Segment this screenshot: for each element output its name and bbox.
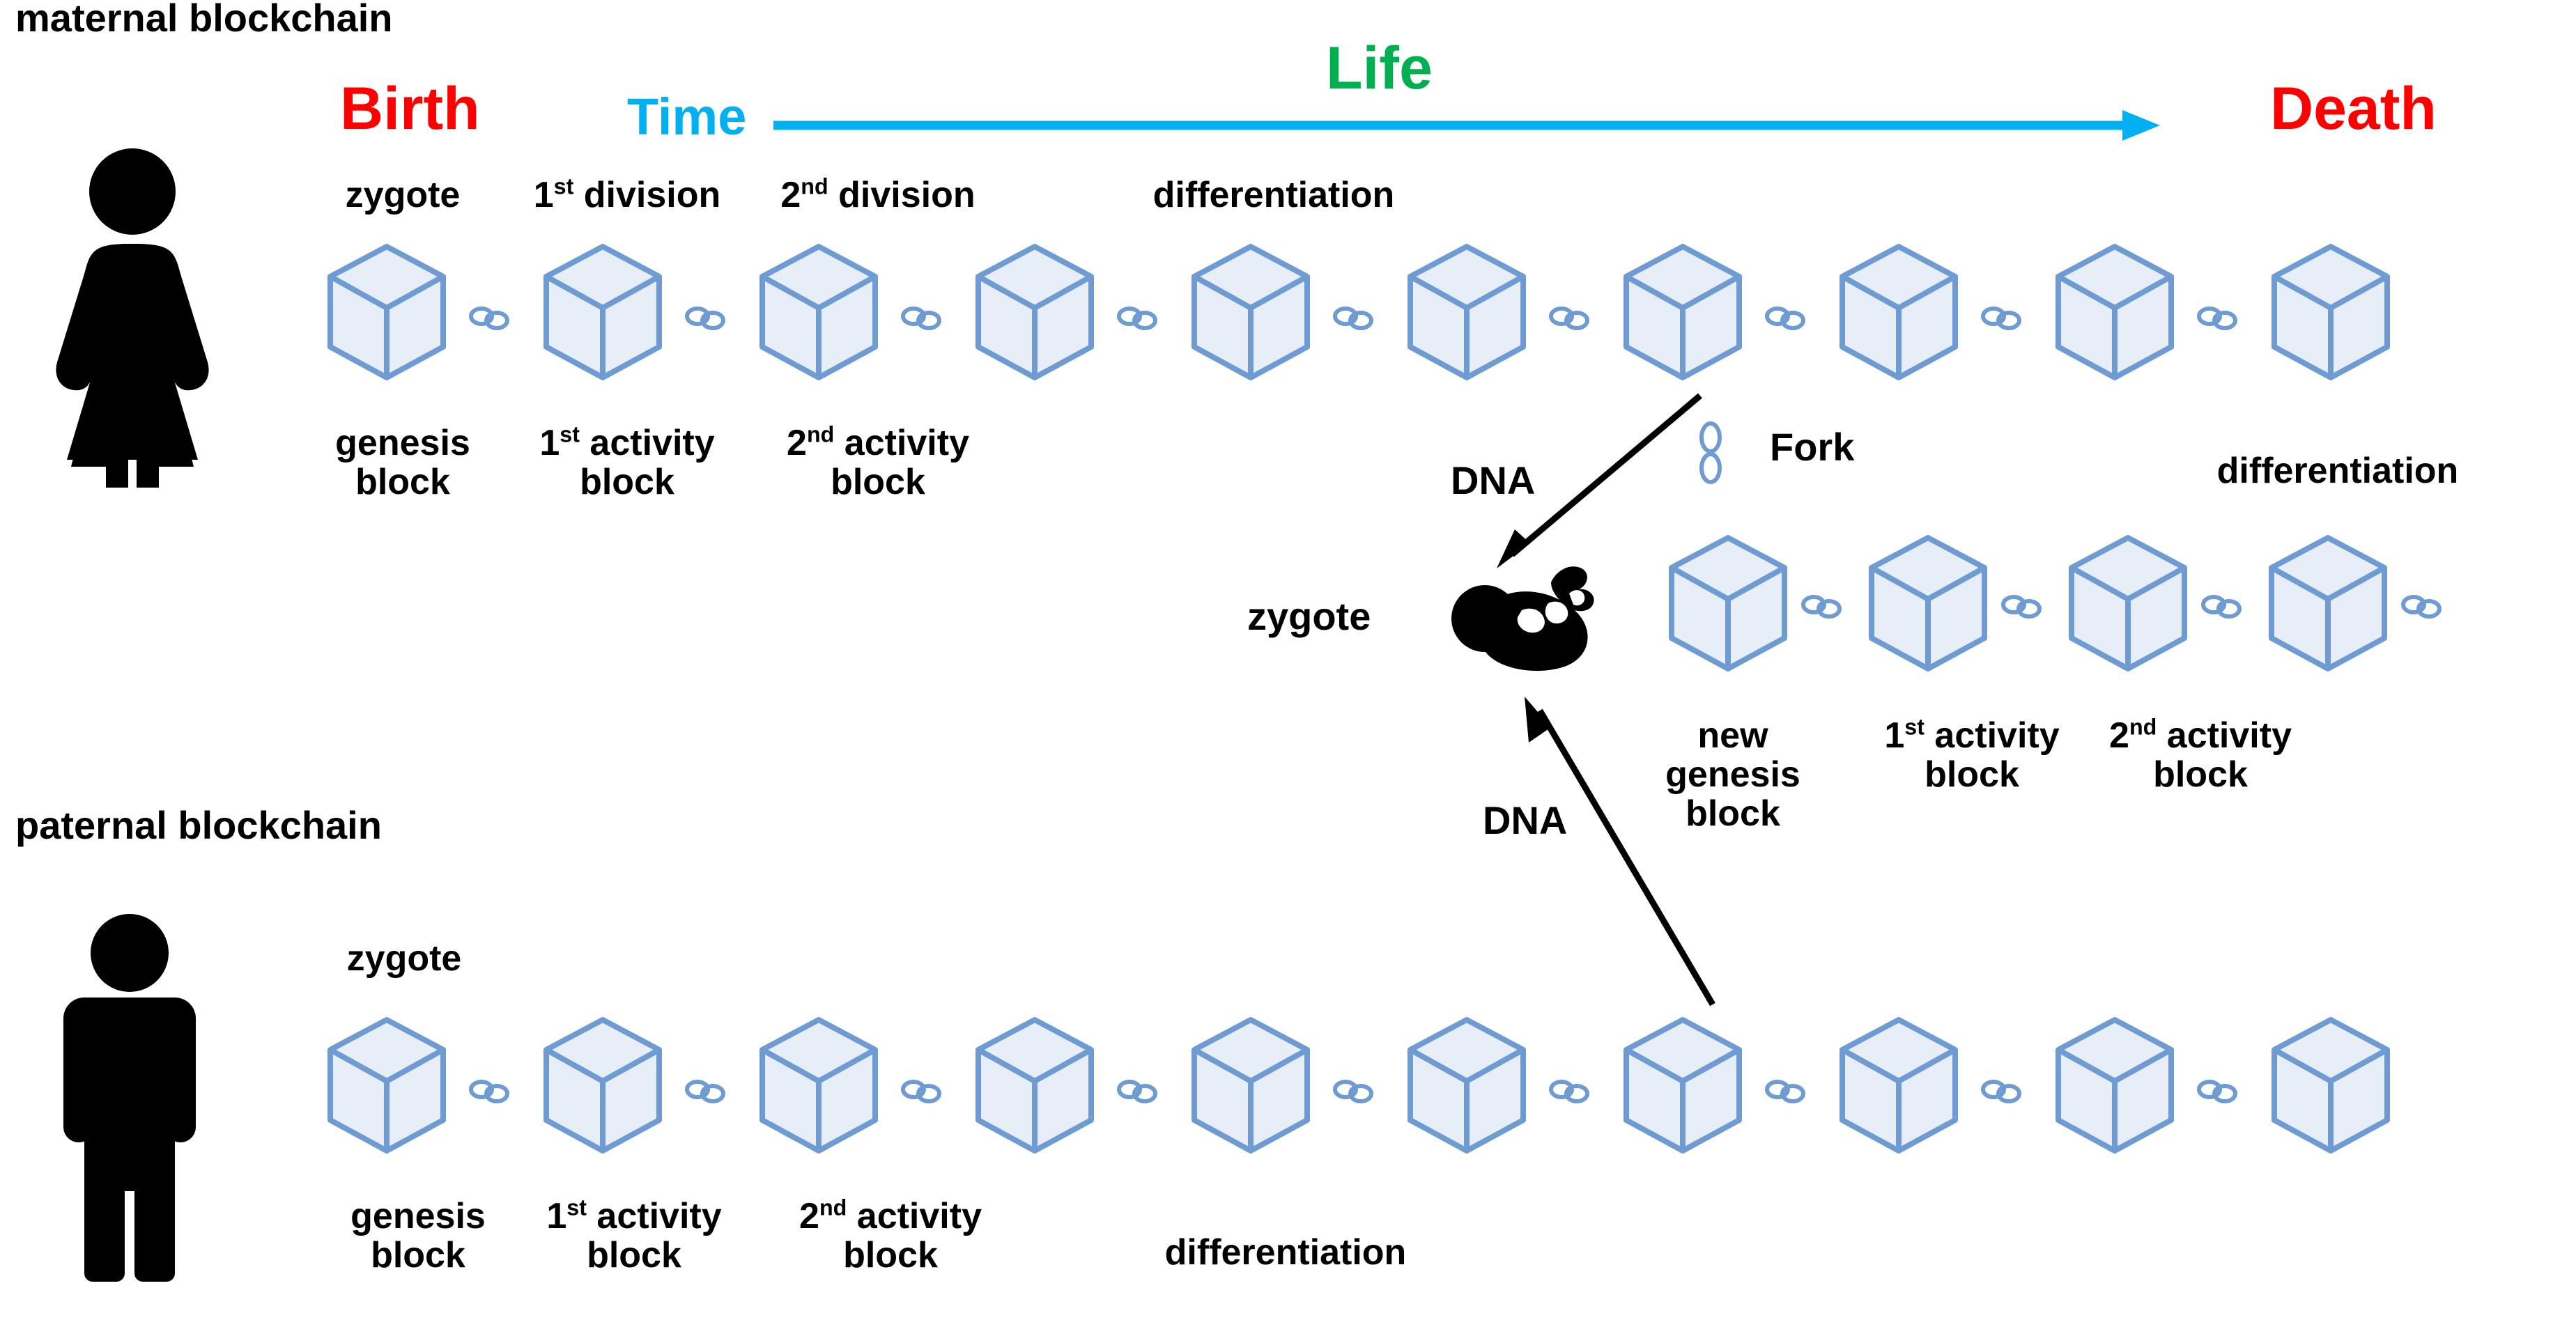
birth-label: Birth	[340, 77, 480, 141]
label-line: 2nd activity	[2109, 716, 2292, 755]
label-text: zygote	[346, 175, 461, 215]
maternal-blockchain-row	[327, 230, 2460, 411]
label-line: block	[1884, 755, 2059, 794]
label-line: 1st activity	[546, 1197, 721, 1236]
label-line: block	[799, 1236, 982, 1275]
death-label: Death	[2270, 77, 2437, 141]
label-line: block	[539, 463, 714, 502]
label-line: block	[350, 1236, 486, 1275]
life-label: Life	[1326, 36, 1433, 101]
time-arrow-icon	[773, 104, 2160, 146]
fetus-silhouette-icon	[1447, 557, 1614, 683]
label-line: 2nd activity	[799, 1197, 982, 1236]
maternal-top-label-1st-division: 1st division	[534, 176, 721, 215]
paternal-bottom-label-differentiation: differentiation	[1165, 1233, 1407, 1272]
fork-bottom-label-1st-activity-block: 1st activity block	[1884, 716, 2059, 794]
label-line: block	[335, 463, 470, 502]
paternal-bottom-label-2nd-activity-block: 2nd activity block	[799, 1197, 982, 1275]
fork-top-label-differentiation: differentiation	[2217, 451, 2459, 490]
label-line: 2nd activity	[787, 424, 969, 463]
label-line: block	[787, 463, 969, 502]
time-label: Time	[627, 89, 746, 145]
dna-arrow-paternal-to-zygote	[1512, 697, 1791, 1017]
fork-bottom-label-2nd-activity-block: 2nd activity block	[2109, 716, 2292, 794]
paternal-bottom-label-genesis-block: genesis block	[350, 1197, 486, 1275]
label-text: zygote	[347, 938, 462, 979]
paternal-blockchain-row	[327, 1003, 2460, 1184]
label-line: genesis	[350, 1197, 486, 1236]
offspring-zygote-label: zygote	[1247, 596, 1371, 637]
fork-label: Fork	[1770, 426, 1854, 468]
label-text: differentiation	[2217, 451, 2459, 491]
maternal-bottom-label-genesis-block: genesis block	[335, 424, 470, 502]
maternal-top-label-differentiation: differentiation	[1153, 176, 1395, 215]
label-line: 1st activity	[1884, 716, 2059, 755]
maternal-blockchain-title: maternal blockchain	[15, 0, 393, 39]
diagram-canvas: maternal blockchain paternal blockchain …	[0, 0, 2576, 1343]
paternal-top-label-zygote: zygote	[347, 939, 462, 978]
dna-label-paternal: DNA	[1483, 800, 1567, 841]
fork-blockchain-row	[1669, 529, 2575, 711]
label-text: differentiation	[1153, 175, 1395, 215]
paternal-bottom-label-1st-activity-block: 1st activity block	[546, 1197, 721, 1275]
dna-label-maternal: DNA	[1451, 460, 1535, 502]
paternal-blockchain-title: paternal blockchain	[15, 805, 382, 846]
label-line: 1st activity	[539, 424, 714, 463]
male-figure-icon	[25, 906, 234, 1296]
maternal-top-label-2nd-division: 2nd division	[780, 176, 975, 215]
maternal-top-label-zygote: zygote	[346, 176, 461, 215]
female-figure-icon	[21, 132, 244, 481]
label-line: block	[2109, 755, 2292, 794]
label-line: differentiation	[1165, 1232, 1407, 1273]
label-line: genesis	[335, 424, 470, 463]
maternal-bottom-label-2nd-activity-block: 2nd activity block	[787, 424, 969, 502]
label-line: block	[546, 1236, 721, 1275]
maternal-bottom-label-1st-activity-block: 1st activity block	[539, 424, 714, 502]
